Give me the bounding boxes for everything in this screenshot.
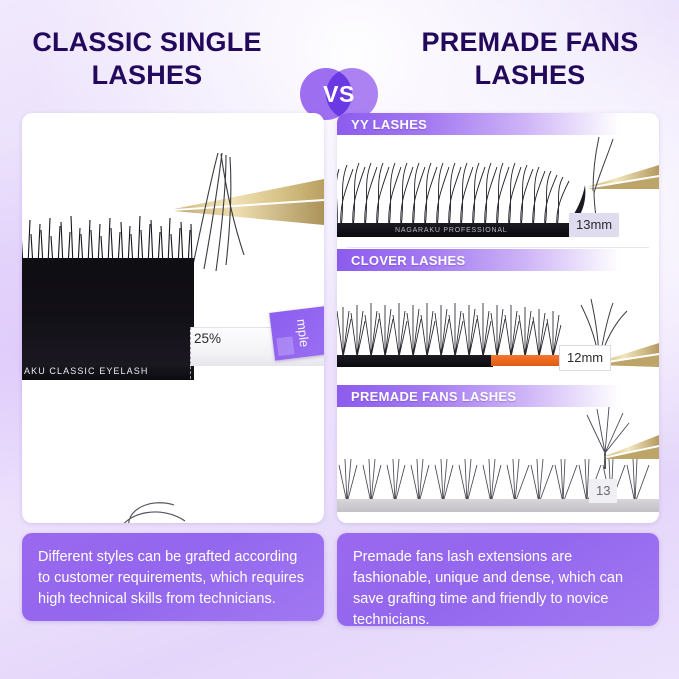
tray-bristle-texture — [22, 214, 194, 266]
caption-premade-fans: Premade fans lash extensions are fashion… — [337, 533, 659, 626]
percent-label: 25% — [194, 331, 221, 347]
sample-sticker-text: mple — [294, 318, 312, 348]
sample-sticker: mple — [269, 305, 324, 360]
section-title-yy: YY LASHES — [337, 117, 427, 132]
clover-strip-base-black — [337, 355, 493, 367]
section-body-premade: 13 — [337, 407, 659, 523]
tray-brand-text: AKU CLASSIC EYELASH — [24, 365, 192, 378]
comparison-header: CLASSIC SINGLE LASHES VS PREMADE FANS LA… — [0, 26, 679, 102]
section-divider-1 — [347, 247, 649, 248]
section-title-clover: CLOVER LASHES — [337, 253, 465, 268]
classic-single-lashes-panel: AKU CLASSIC EYELASH 25% mple — [22, 113, 324, 523]
section-header-premade: PREMADE FANS LASHES — [337, 385, 659, 407]
infographic-canvas: CLASSIC SINGLE LASHES VS PREMADE FANS LA… — [0, 0, 679, 679]
measurement-13: 13 — [589, 479, 617, 503]
section-yy-lashes: YY LASHES — [337, 113, 659, 248]
section-header-clover: CLOVER LASHES — [337, 249, 659, 271]
section-header-yy: YY LASHES — [337, 113, 659, 135]
section-premade-fans: PREMADE FANS LASHES — [337, 385, 659, 523]
measurement-12mm: 12mm — [559, 345, 611, 371]
premade-fans-lashes-panel: YY LASHES — [337, 113, 659, 523]
scattered-lash-curves — [22, 503, 324, 523]
caption-classic-lashes: Different styles can be grafted accordin… — [22, 533, 324, 621]
section-title-premade: PREMADE FANS LASHES — [337, 389, 516, 404]
classic-lash-tray — [22, 258, 194, 363]
page-title-right: PREMADE FANS LASHES — [385, 26, 675, 92]
tweezers-icon — [174, 179, 324, 225]
section-body-yy: NAGARAKU PROFESSIONAL 13mm — [337, 135, 659, 248]
sticker-chip — [276, 336, 294, 356]
section-body-clover: 12mm — [337, 271, 659, 384]
yy-strip-caption: NAGARAKU PROFESSIONAL — [395, 227, 508, 234]
page-title-left: CLASSIC SINGLE LASHES — [2, 26, 292, 92]
measurement-tick — [190, 327, 192, 379]
section-clover-lashes: CLOVER LASHES — [337, 249, 659, 384]
measurement-13mm: 13mm — [569, 213, 619, 237]
